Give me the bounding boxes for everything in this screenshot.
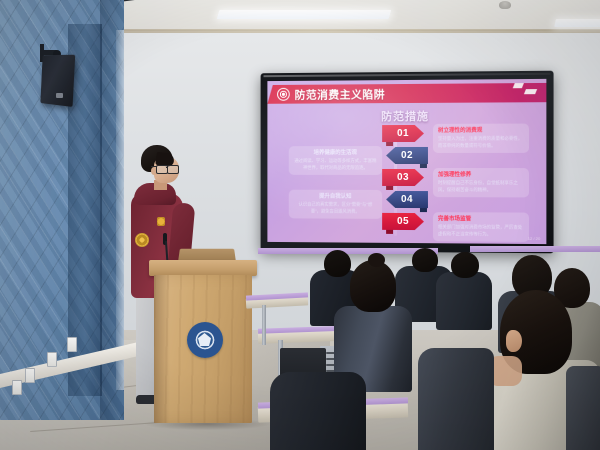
chest-emblem-icon bbox=[157, 217, 165, 226]
wall-speaker-icon bbox=[40, 55, 75, 107]
audience-member bbox=[270, 372, 366, 450]
podium bbox=[149, 260, 257, 428]
badge-tail bbox=[386, 186, 393, 190]
backpack-strap bbox=[566, 366, 600, 450]
slide-canvas: 防范消费主义陷阱 防范措施 01 树立理性的消费观 坚持量入为出，注重消费的质量… bbox=[267, 79, 546, 244]
audience-member bbox=[334, 260, 412, 390]
item-title: 提升自我认知 bbox=[294, 193, 378, 201]
item-title: 树立理性的消费观 bbox=[438, 127, 524, 136]
power-outlet-icon bbox=[67, 337, 77, 352]
person-torso bbox=[270, 372, 366, 450]
power-outlet-icon bbox=[47, 352, 57, 367]
slide-body: 防范措施 01 树立理性的消费观 坚持量入为出，注重消费的质量和必要性，而非单纯… bbox=[267, 102, 546, 244]
glasses-icon bbox=[167, 165, 179, 174]
parallelogram-deco-icon bbox=[514, 83, 536, 94]
podium-side-shadow bbox=[154, 275, 170, 423]
item-description: 相关部门加强对消费市场的监管，严厉查处虚假和不正当宣传等行为。 bbox=[438, 224, 524, 238]
led-ceiling-panel-icon bbox=[217, 10, 392, 19]
university-seal-icon bbox=[187, 322, 223, 358]
item-title: 培养健康的生活观 bbox=[294, 149, 378, 157]
power-outlet-icon bbox=[12, 380, 22, 395]
seal-center-glyph bbox=[198, 333, 211, 346]
badge-tail bbox=[386, 230, 393, 234]
hair-bun bbox=[368, 253, 385, 267]
step-number-badge: 04 bbox=[386, 191, 428, 208]
badge-tail bbox=[420, 164, 427, 168]
person-head bbox=[451, 252, 479, 278]
glasses-bridge bbox=[166, 167, 168, 168]
podium-top-surface bbox=[149, 260, 257, 276]
step-number-badge: 02 bbox=[386, 147, 428, 164]
speaker-badge bbox=[56, 93, 63, 98]
slide-item-card: 提升自我认知 认识自己的真实需求，区分"需要"与"想要"，避免盲目跟风消费。 bbox=[289, 190, 382, 219]
slide-page-number: 12 / 20 bbox=[528, 236, 540, 241]
smoke-detector-icon bbox=[499, 1, 511, 9]
seal-emblem-icon bbox=[277, 88, 290, 101]
badge-tail bbox=[386, 142, 393, 146]
person-head bbox=[350, 260, 396, 312]
person-torso bbox=[418, 348, 494, 450]
classroom-presentation-photo: 防范消费主义陷阱 防范措施 01 树立理性的消费观 坚持量入为出，注重消费的质量… bbox=[0, 0, 600, 450]
item-title: 加强理性修养 bbox=[438, 171, 524, 179]
sleeve-emblem-icon bbox=[135, 233, 149, 247]
slide-header-bar: 防范消费主义陷阱 bbox=[267, 83, 546, 104]
step-number-badge: 01 bbox=[382, 125, 424, 142]
power-outlet-icon bbox=[25, 368, 35, 383]
display-screen[interactable]: 防范消费主义陷阱 防范措施 01 树立理性的消费观 坚持量入为出，注重消费的质量… bbox=[261, 71, 554, 254]
led-ceiling-panel-icon bbox=[554, 19, 600, 27]
person-ear bbox=[506, 330, 522, 352]
slide-item-card: 树立理性的消费观 坚持量入为出，注重消费的质量和必要性，而非单纯的数量或符号价值… bbox=[433, 124, 529, 153]
step-number-badge: 03 bbox=[382, 169, 424, 186]
slide-item-card: 培养健康的生活观 通过阅读、学习、运动等多样方式，丰富精神世界，取代对商品的无限… bbox=[289, 146, 382, 175]
item-description: 坚持量入为出，注重消费的质量和必要性，而非单纯的数量或符号价值。 bbox=[438, 136, 524, 150]
item-description: 通过阅读、学习、运动等多样方式，丰富精神世界，取代对商品的无限追逐。 bbox=[294, 158, 378, 172]
step-number-badge: 05 bbox=[382, 213, 424, 230]
audience-member bbox=[418, 332, 494, 450]
slide-item-card: 完善市场监管 相关部门加强对消费市场的监管，严厉查处虚假和不正当宣传等行为。 bbox=[433, 212, 529, 242]
item-description: 时刻提醒自己不忘身份，自觉抵制享乐之风，保持艰苦奋斗的精神。 bbox=[438, 180, 524, 194]
slide-title: 防范消费主义陷阱 bbox=[295, 86, 385, 103]
desk-leg bbox=[262, 305, 266, 345]
badge-tail bbox=[420, 208, 427, 212]
item-title: 完善市场监管 bbox=[438, 215, 524, 224]
slide-item-card: 加强理性修养 时刻提醒自己不忘身份，自觉抵制享乐之风，保持艰苦奋斗的精神。 bbox=[433, 168, 529, 197]
item-description: 认识自己的真实需求，区分"需要"与"想要"，避免盲目跟风消费。 bbox=[294, 202, 378, 216]
slide-subtitle: 防范措施 bbox=[267, 107, 546, 124]
bezel-highlight bbox=[264, 73, 551, 77]
person-head bbox=[412, 248, 438, 272]
